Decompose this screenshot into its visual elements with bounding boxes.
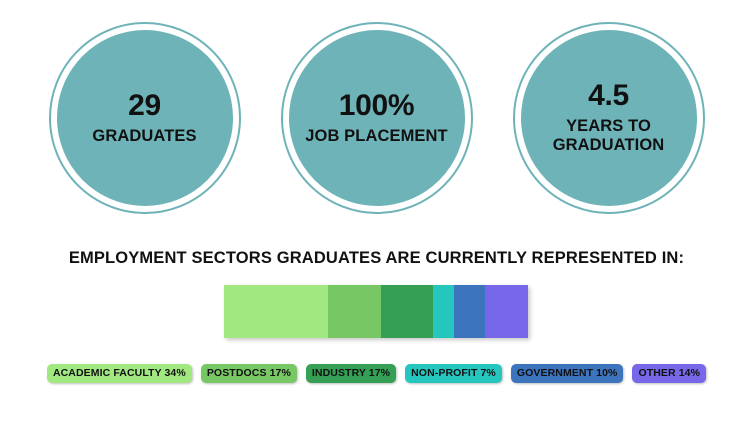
employment-sectors-legend: ACADEMIC FACULTY 34%POSTDOCS 17%INDUSTRY… — [0, 364, 753, 383]
legend-chip-government: GOVERNMENT 10% — [511, 364, 624, 383]
legend-chip-academic-faculty: ACADEMIC FACULTY 34% — [47, 364, 192, 383]
stat-circle-years-to-graduation: 4.5 YEARS TO GRADUATION — [513, 22, 705, 214]
employment-sectors-stacked-bar — [224, 285, 528, 338]
legend-chip-industry: INDUSTRY 17% — [306, 364, 396, 383]
bar-segment-government — [454, 285, 485, 338]
bar-segment-academic-faculty — [224, 285, 328, 338]
stat-value-job-placement: 100% — [339, 90, 415, 122]
stat-circle-job-placement-inner: 100% JOB PLACEMENT — [289, 30, 465, 206]
stat-value-graduates: 29 — [128, 90, 161, 122]
stat-circle-graduates-inner: 29 GRADUATES — [57, 30, 233, 206]
stat-circle-graduates: 29 GRADUATES — [49, 22, 241, 214]
bar-segment-other — [485, 285, 528, 338]
stat-circle-job-placement: 100% JOB PLACEMENT — [281, 22, 473, 214]
employment-sectors-heading: EMPLOYMENT SECTORS GRADUATES ARE CURRENT… — [0, 249, 753, 268]
stat-circle-years-to-graduation-inner: 4.5 YEARS TO GRADUATION — [521, 30, 697, 206]
stat-circles-row: 29 GRADUATES 100% JOB PLACEMENT 4.5 YEAR… — [0, 22, 753, 214]
stat-label-years-to-graduation: YEARS TO GRADUATION — [533, 117, 685, 156]
stat-label-graduates: GRADUATES — [92, 127, 196, 146]
legend-chip-other: OTHER 14% — [632, 364, 706, 383]
legend-chip-non-profit: NON-PROFIT 7% — [405, 364, 502, 383]
bar-segment-non-profit — [433, 285, 454, 338]
bar-segment-industry — [381, 285, 433, 338]
bar-segment-postdocs — [328, 285, 380, 338]
stat-label-job-placement: JOB PLACEMENT — [305, 127, 447, 146]
stat-value-years-to-graduation: 4.5 — [588, 80, 629, 112]
legend-chip-postdocs: POSTDOCS 17% — [201, 364, 297, 383]
